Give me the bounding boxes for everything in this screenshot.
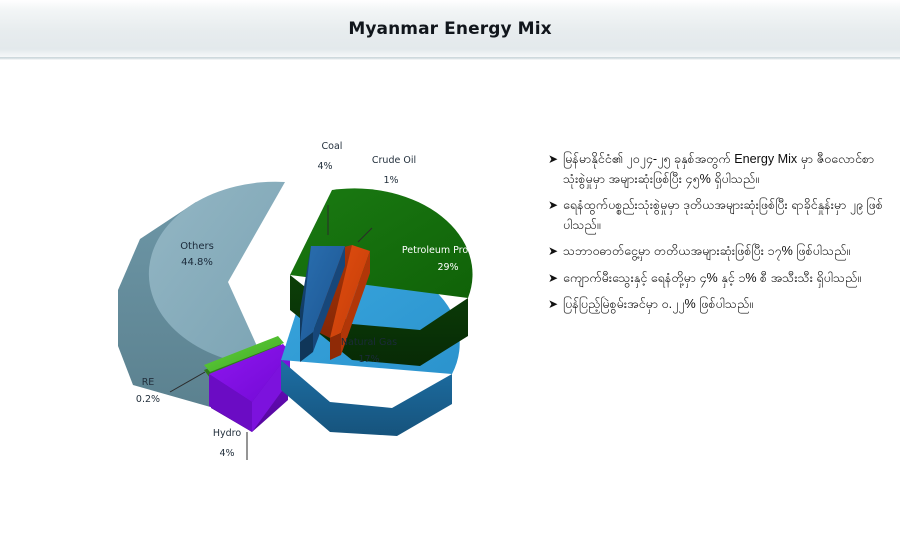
- bullet-arrow-icon: ➤: [548, 295, 563, 314]
- bullet-item: ➤ ရေနံထွက်ပစ္စည်းသုံးစွဲမှုမှာ ဒုတိယအမျာ…: [548, 196, 893, 235]
- energy-mix-pie-chart: Others 44.8% Petroleum Products 29% Natu…: [0, 60, 545, 530]
- pie-callout-coal: Coal 4%: [317, 141, 342, 172]
- pie-callout-coal-value: 4%: [317, 161, 332, 172]
- pie-label-natural-gas-name: Natural Gas: [341, 337, 397, 348]
- page-header: Myanmar Energy Mix: [0, 0, 900, 57]
- pie-label-petroleum-value: 29%: [437, 262, 458, 273]
- pie-callout-crude-oil: Crude Oil 1%: [372, 155, 416, 186]
- bullet-text: မြန်မာနိုင်ငံ၏ ၂၀၂၄-၂၅ ခုနှစ်အတွက် Energ…: [563, 150, 893, 189]
- pie-chart-svg: Others 44.8% Petroleum Products 29% Natu…: [0, 60, 545, 530]
- pie-callout-coal-name: Coal: [322, 141, 343, 152]
- bullet-arrow-icon: ➤: [548, 269, 563, 288]
- bullet-arrow-icon: ➤: [548, 242, 563, 261]
- pie-label-others-value: 44.8%: [181, 257, 213, 268]
- summary-bullet-list: ➤ မြန်မာနိုင်ငံ၏ ၂၀၂၄-၂၅ ခုနှစ်အတွက် Ene…: [548, 150, 893, 322]
- bullet-item: ➤ သဘာဝဓာတ်ငွေ့မှာ တတိယအများဆုံးဖြစ်ပြီး …: [548, 242, 893, 262]
- bullet-text: ပြန်ပြည့်မြဲစွမ်းအင်မှာ ၀.၂၂% ဖြစ်ပါသည်။: [563, 295, 893, 315]
- pie-callout-re-value: 0.2%: [136, 394, 160, 405]
- page-title: Myanmar Energy Mix: [348, 19, 551, 39]
- pie-label-petroleum-name: Petroleum Products: [402, 245, 494, 256]
- pie-callout-re-name: RE: [142, 377, 155, 388]
- bullet-text: ကျောက်မီးသွေးနှင့် ရေနံတို့မှာ ၄% နှင့် …: [563, 269, 893, 289]
- pie-callout-crude-oil-name: Crude Oil: [372, 155, 416, 166]
- pie-label-natural-gas-value: 17%: [358, 354, 379, 365]
- bullet-text: ရေနံထွက်ပစ္စည်းသုံးစွဲမှုမှာ ဒုတိယအများဆ…: [563, 196, 893, 235]
- pie-callout-crude-oil-value: 1%: [383, 175, 398, 186]
- bullet-arrow-icon: ➤: [548, 196, 563, 215]
- bullet-item: ➤ ပြန်ပြည့်မြဲစွမ်းအင်မှာ ၀.၂၂% ဖြစ်ပါသည…: [548, 295, 893, 315]
- pie-callout-hydro-name: Hydro: [213, 428, 241, 439]
- bullet-item: ➤ ကျောက်မီးသွေးနှင့် ရေနံတို့မှာ ၄% နှင့…: [548, 269, 893, 289]
- bullet-arrow-icon: ➤: [548, 150, 563, 169]
- pie-label-others-name: Others: [180, 241, 214, 252]
- pie-callout-hydro-value: 4%: [219, 448, 234, 459]
- bullet-item: ➤ မြန်မာနိုင်ငံ၏ ၂၀၂၄-၂၅ ခုနှစ်အတွက် Ene…: [548, 150, 893, 189]
- bullet-text: သဘာဝဓာတ်ငွေ့မှာ တတိယအများဆုံးဖြစ်ပြီး ၁၇…: [563, 242, 893, 262]
- pie-callout-hydro: Hydro 4%: [213, 428, 241, 459]
